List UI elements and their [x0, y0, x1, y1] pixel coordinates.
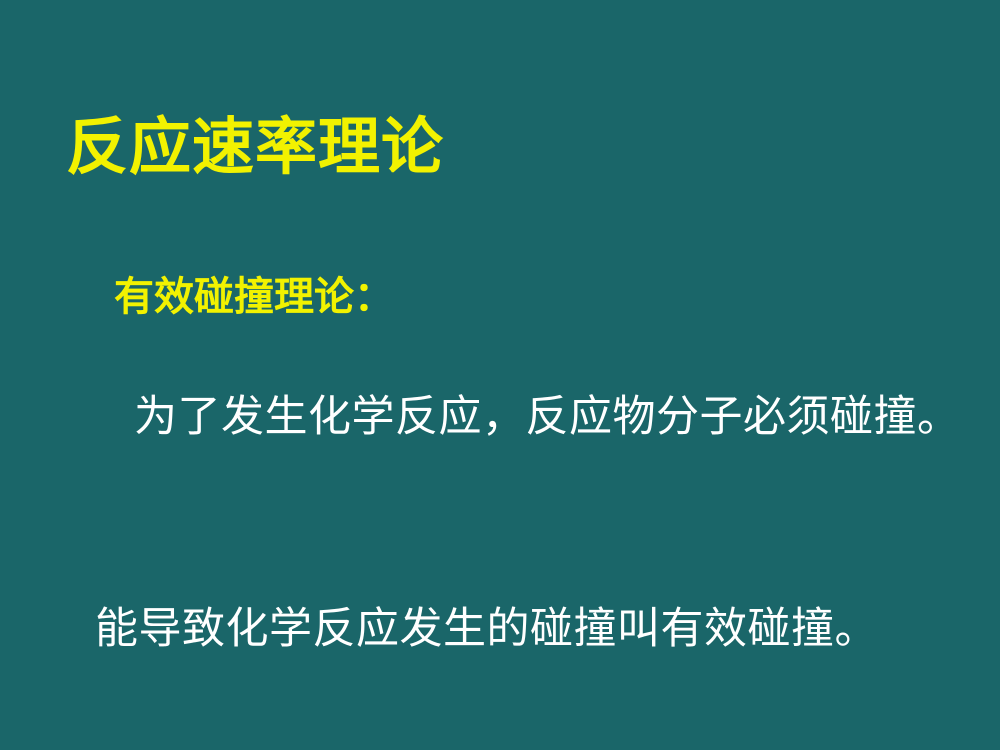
slide-subtitle: 有效碰撞理论： — [114, 277, 394, 317]
slide-title: 反应速率理论 — [66, 117, 444, 179]
presentation-slide: 反应速率理论 有效碰撞理论： 为了发生化学反应，反应物分子必须碰撞。 能导致化学… — [0, 0, 1000, 750]
body-text-line-1: 为了发生化学反应，反应物分子必须碰撞。 — [134, 396, 961, 439]
body-text-line-2: 能导致化学反应发生的碰撞叫有效碰撞。 — [95, 608, 878, 651]
